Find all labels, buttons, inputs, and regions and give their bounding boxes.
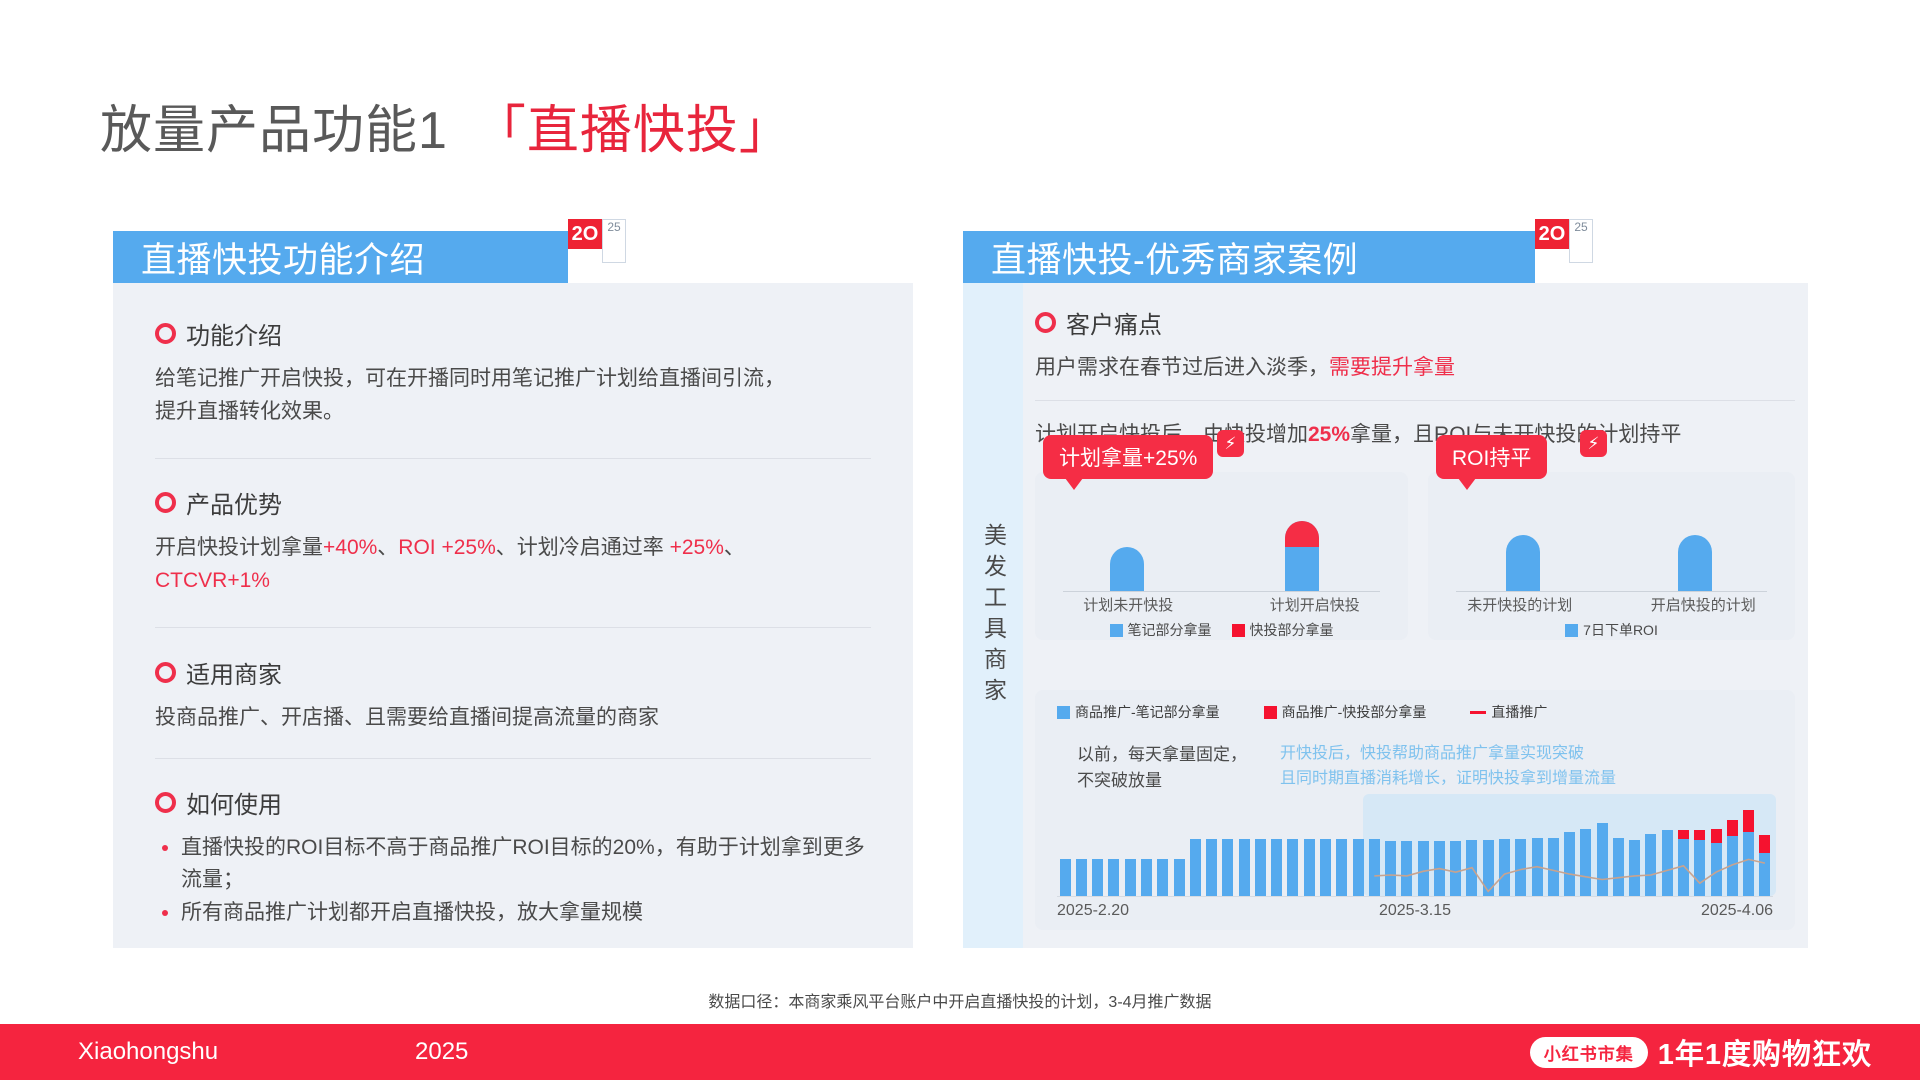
pain-point-title: 客户痛点 xyxy=(1035,305,1795,340)
mini-chart-row: 计划拿量+25% ⚡ 计划未开快投 计划开启快投 笔记部分拿量 xyxy=(1035,472,1795,640)
chart-3-date-labels: 2025-2.20 2025-3.15 2025-4.06 xyxy=(1057,902,1773,920)
legend-item: 商品推广-笔记部分拿量 xyxy=(1057,702,1220,722)
chart-3-line-series xyxy=(1057,800,1773,896)
ring-icon xyxy=(155,792,176,813)
right-panel-header: 直播快投-优秀商家案例 2O 25 xyxy=(963,231,1535,283)
source-note: 数据口径：本商家乘风平台账户中开启直播快投的计划，3-4月推广数据 xyxy=(0,988,1920,1012)
left-panel-header: 直播快投功能介绍 2O 25 xyxy=(113,231,568,283)
adv-mid-2: 、计划冷启通过率 xyxy=(496,536,670,559)
chart-3-annotation-right: 开快投后，快投帮助商品推广拿量实现突破且同时期直播消耗增长，证明快投拿到增量流量 xyxy=(1280,742,1616,792)
adv-mid-3: 、 xyxy=(724,536,745,559)
pain-point-text: 用户需求在春节过后进入淡季，需要提升拿量 xyxy=(1035,352,1795,384)
year-badge-left: 2O 25 xyxy=(568,219,626,263)
legend-item: 商品推广-快投部分拿量 xyxy=(1264,702,1427,722)
year-badge-right-num: 2O xyxy=(1535,219,1569,249)
section-product-advantage: 产品优势 开启快投计划拿量+40%、ROI +25%、计划冷启通过率 +25%、… xyxy=(155,485,871,597)
footer-pill-logo: 小红书市集 xyxy=(1530,1037,1648,1068)
legend-swatch-red-icon xyxy=(1232,624,1245,637)
chart-1-x-labels: 计划未开快投 计划开启快投 xyxy=(1035,594,1408,615)
divider-1 xyxy=(155,458,871,459)
section-how-to-use: 如何使用 直播快投的ROI目标不高于商品推广ROI目标的20%，有助于计划拿到更… xyxy=(155,785,871,931)
section-feature-intro: 功能介绍 给笔记推广开启快投，可在开播同时用笔记推广计划给直播间引流， 提升直播… xyxy=(155,316,871,428)
section-title-text: 如何使用 xyxy=(186,785,282,820)
divider-right-1 xyxy=(1035,400,1795,401)
chart-2-bars xyxy=(1428,514,1795,592)
chart-1-baseline xyxy=(1063,591,1380,592)
pain-pre: 用户需求在春节过后进入淡季， xyxy=(1035,356,1329,379)
right-panel-header-label: 直播快投-优秀商家案例 xyxy=(963,232,1380,283)
footer-year: 2025 xyxy=(415,1038,468,1066)
x-tick-label: 2025-2.20 xyxy=(1057,902,1129,920)
section-target-merchant-body: 投商品推广、开店播、且需要给直播间提高流量的商家 xyxy=(155,702,871,735)
year-badge-left-num: 2O xyxy=(568,219,602,249)
x-tick-label: 未开快投的计划 xyxy=(1467,594,1572,615)
bar-segment-kuaitou xyxy=(1285,521,1319,547)
chart-card-volume: 计划拿量+25% ⚡ 计划未开快投 计划开启快投 笔记部分拿量 xyxy=(1035,472,1408,640)
divider-2 xyxy=(155,627,871,628)
section-product-advantage-title: 产品优势 xyxy=(155,485,871,520)
chart-3-legend: 商品推广-笔记部分拿量 商品推广-快投部分拿量 直播推广 xyxy=(1057,702,1547,722)
section-title-text: 适用商家 xyxy=(186,655,282,690)
chart-3-plot xyxy=(1057,800,1773,896)
ring-icon xyxy=(155,323,176,344)
bar-plan-without xyxy=(1110,547,1144,591)
adv-red-2: ROI +25% xyxy=(398,536,495,559)
body-line-2: 提升直播转化效果。 xyxy=(155,400,344,423)
vertical-category-label: 美发工具商家 xyxy=(982,523,1005,709)
footer-slogan: 1年1度购物狂欢 xyxy=(1658,1031,1872,1073)
chart-3-annotation-left: 以前，每天拿量固定，不突破放量 xyxy=(1077,742,1247,793)
chart-1-bubble-label: 计划拿量+25% xyxy=(1043,435,1213,479)
chart-2-legend: 7日下单ROI xyxy=(1428,620,1795,640)
section-title-text: 客户痛点 xyxy=(1066,305,1162,340)
page-title: 放量产品功能1「直播快投」 xyxy=(100,88,792,163)
footer-brand: Xiaohongshu xyxy=(78,1038,218,1066)
how-to-use-list: 直播快投的ROI目标不高于商品推广ROI目标的20%，有助于计划拿到更多流量； … xyxy=(155,832,871,929)
section-how-to-use-title: 如何使用 xyxy=(155,785,871,820)
legend-swatch-red-icon xyxy=(1264,706,1277,719)
section-target-merchant-title: 适用商家 xyxy=(155,655,871,690)
legend-swatch-blue-icon xyxy=(1110,624,1123,637)
body-line-1: 给笔记推广开启快投，可在开播同时用笔记推广计划给直播间引流， xyxy=(155,367,785,390)
left-panel-header-label: 直播快投功能介绍 xyxy=(113,232,447,283)
year-badge-right-suffix: 25 xyxy=(1569,219,1593,263)
legend-item: 7日下单ROI xyxy=(1565,620,1658,640)
slide-root: 放量产品功能1「直播快投」 直播快投功能介绍 2O 25 功能介绍 给笔记推广开… xyxy=(0,0,1920,1080)
year-badge-left-suffix: 25 xyxy=(602,219,626,263)
ring-icon xyxy=(1035,312,1056,333)
legend-label: 笔记部分拿量 xyxy=(1128,620,1212,640)
chart-1-bars xyxy=(1035,514,1408,592)
bar-plan-with xyxy=(1285,521,1319,591)
x-tick-label: 计划开启快投 xyxy=(1270,594,1360,615)
adv-red-3: +25% xyxy=(670,536,724,559)
ring-icon xyxy=(155,492,176,513)
x-tick-label: 2025-4.06 xyxy=(1701,902,1773,920)
lightning-icon: ⚡ xyxy=(1580,430,1607,457)
bar-roi-with xyxy=(1678,535,1712,591)
legend-swatch-line-icon xyxy=(1470,711,1486,714)
section-title-text: 功能介绍 xyxy=(186,316,282,351)
result-red: 25% xyxy=(1308,423,1350,446)
section-feature-intro-title: 功能介绍 xyxy=(155,316,871,351)
x-tick-label: 计划未开快投 xyxy=(1083,594,1173,615)
page-title-main: 放量产品功能1 xyxy=(100,102,448,160)
year-badge-right: 2O 25 xyxy=(1535,219,1593,263)
footer-bar: Xiaohongshu 2025 小红书市集 1年1度购物狂欢 xyxy=(0,1024,1920,1080)
ring-icon xyxy=(155,662,176,683)
legend-item: 直播推广 xyxy=(1470,702,1547,722)
legend-swatch-blue-icon xyxy=(1565,624,1578,637)
chart-2-x-labels: 未开快投的计划 开启快投的计划 xyxy=(1428,594,1795,615)
chart-2-bubble-label: ROI持平 xyxy=(1436,435,1547,479)
x-tick-label: 2025-3.15 xyxy=(1379,902,1451,920)
x-tick-label: 开启快投的计划 xyxy=(1651,594,1756,615)
legend-label: 快投部分拿量 xyxy=(1250,620,1334,640)
page-title-accent: 「直播快投」 xyxy=(474,102,792,160)
legend-label: 7日下单ROI xyxy=(1583,620,1658,640)
left-content-card: 功能介绍 给笔记推广开启快投，可在开播同时用笔记推广计划给直播间引流， 提升直播… xyxy=(113,283,913,948)
section-title-text: 产品优势 xyxy=(186,485,282,520)
pain-red: 需要提升拿量 xyxy=(1329,356,1455,379)
list-item: 所有商品推广计划都开启直播快投，放大拿量规模 xyxy=(155,897,871,929)
section-target-merchant: 适用商家 投商品推广、开店播、且需要给直播间提高流量的商家 xyxy=(155,655,871,735)
chart-3-axis xyxy=(1057,896,1773,897)
legend-item: 笔记部分拿量 xyxy=(1110,620,1212,640)
adv-mid-1: 、 xyxy=(377,536,398,559)
footer-campaign: 小红书市集 1年1度购物狂欢 xyxy=(1530,1031,1872,1073)
chart-card-trend: 商品推广-笔记部分拿量 商品推广-快投部分拿量 直播推广 以前，每天拿量固定，不… xyxy=(1035,690,1795,930)
divider-3 xyxy=(155,758,871,759)
legend-label: 商品推广-快投部分拿量 xyxy=(1282,702,1427,722)
lightning-icon: ⚡ xyxy=(1217,430,1244,457)
adv-red-1: +40% xyxy=(323,536,377,559)
chart-1-legend: 笔记部分拿量 快投部分拿量 xyxy=(1035,620,1408,640)
legend-item: 快投部分拿量 xyxy=(1232,620,1334,640)
list-item: 直播快投的ROI目标不高于商品推广ROI目标的20%，有助于计划拿到更多流量； xyxy=(155,832,871,895)
section-feature-intro-body: 给笔记推广开启快投，可在开播同时用笔记推广计划给直播间引流， 提升直播转化效果。 xyxy=(155,363,871,428)
legend-label: 直播推广 xyxy=(1491,702,1547,722)
legend-swatch-blue-icon xyxy=(1057,706,1070,719)
chart-card-roi: ROI持平 ⚡ 未开快投的计划 开启快投的计划 7日下单ROI xyxy=(1428,472,1795,640)
adv-red-4: CTCVR+1% xyxy=(155,569,270,592)
vertical-category-strip: 美发工具商家 xyxy=(963,283,1023,948)
section-product-advantage-body: 开启快投计划拿量+40%、ROI +25%、计划冷启通过率 +25%、CTCVR… xyxy=(155,532,871,597)
legend-label: 商品推广-笔记部分拿量 xyxy=(1075,702,1220,722)
chart-2-baseline xyxy=(1456,591,1767,592)
bar-roi-without xyxy=(1506,535,1540,591)
adv-pre: 开启快投计划拿量 xyxy=(155,536,323,559)
right-content-body: 客户痛点 用户需求在春节过后进入淡季，需要提升拿量 计划开启快投后，由快投增加2… xyxy=(1035,305,1795,450)
